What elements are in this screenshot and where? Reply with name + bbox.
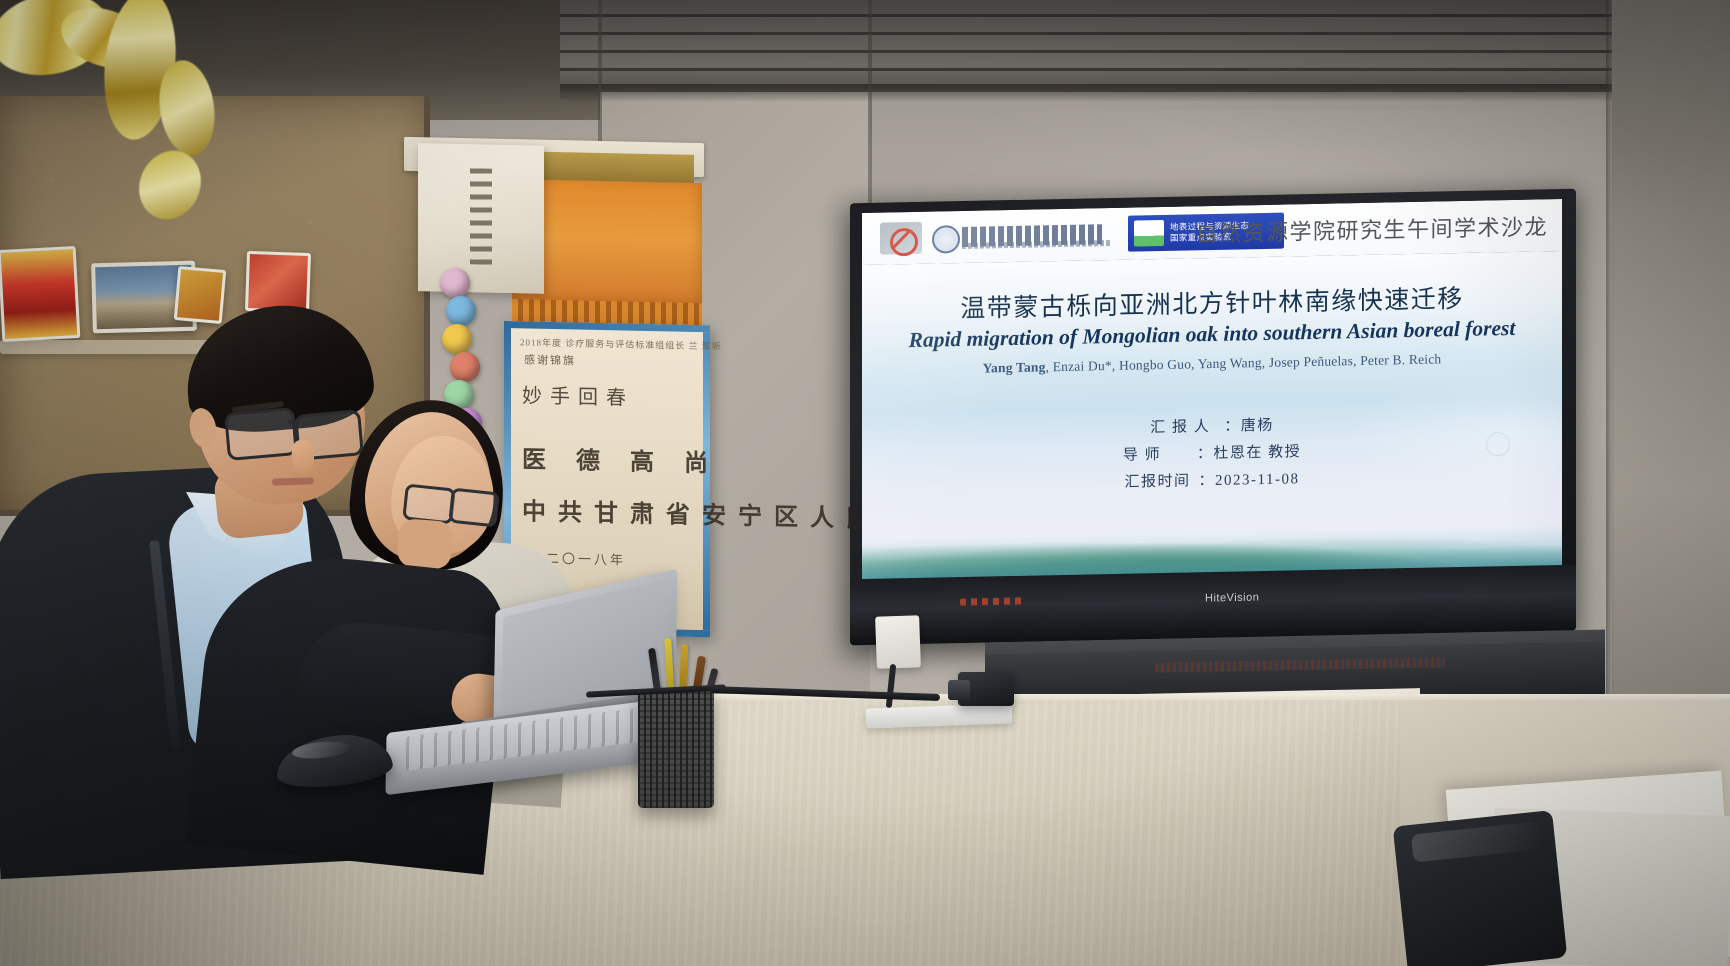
power-outlet [875, 615, 921, 669]
slide-meta-label: 汇 报 人 [1150, 414, 1224, 442]
banner-line-2: 妙手回春 [522, 379, 634, 410]
slide-meta-value: 唐杨 [1241, 418, 1274, 435]
state-key-lab-logo-mark [1134, 220, 1164, 247]
ceiling-slat [560, 50, 1730, 53]
banner-line-5: 二〇一八年 [546, 548, 626, 569]
ceiling-slat [560, 68, 1730, 71]
pinned-photo [174, 266, 227, 324]
slide-meta-label: 导 师 [1123, 441, 1197, 469]
ceiling-slat [560, 14, 1730, 17]
slide-meta-value: 杜恩在 教授 [1213, 444, 1301, 462]
banner-line-1: 感谢锦旗 [524, 351, 576, 368]
banner-line-3: 医 德 高 尚 [522, 439, 720, 478]
banner-side-scroll-text [470, 168, 492, 264]
pinned-photo [0, 246, 80, 342]
presenter-man-glasses-left [224, 407, 298, 461]
ceiling-shadow [560, 84, 1730, 102]
photo-scene: 2018年度 诊疗服务与评估标准组组长 兰 翠新 感谢锦旗 妙手回春 医 德 高… [0, 0, 1730, 966]
slide-author-lead: Yang Tang [983, 359, 1046, 375]
ceiling-slat [560, 32, 1730, 35]
slide-meta-value: 2023-11-08 [1215, 471, 1299, 489]
attendee-woman-neck [396, 518, 453, 570]
slide-banner-title: 自然资源学院研究生午间学术沙龙 [1195, 209, 1548, 248]
attendee-woman-glasses-left [402, 483, 455, 524]
display-ir-sensor [960, 597, 1024, 605]
pen-holder[interactable] [638, 690, 714, 808]
presentation-slide: 地表过程与资源生态 国家重点实验室 自然资源学院研究生午间学术沙龙 温带蒙古栎向… [862, 199, 1562, 585]
pinned-note [0, 340, 210, 354]
bnu-geography-logo [932, 225, 960, 254]
display-brand-label: HiteVision [1205, 591, 1259, 604]
attendee-woman-glasses-right [448, 488, 499, 528]
presenter-man-mouth [272, 477, 314, 485]
banner-side-scroll [418, 143, 544, 294]
pinned-photo [245, 251, 311, 313]
vga-plug[interactable] [948, 680, 970, 700]
slide-meta-block: 汇 报 人：唐杨 导 师：杜恩在 教授 汇报时间：2023-11-08 [862, 407, 1562, 502]
slide-meta-label: 汇报时间 [1125, 468, 1199, 496]
